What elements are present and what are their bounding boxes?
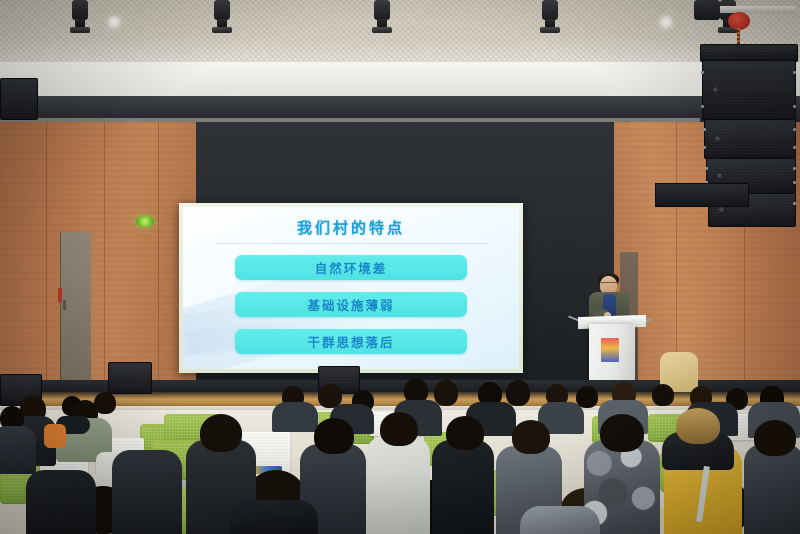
moving-head-light [212,0,232,34]
slide-bullet-label: 自然环境差 [235,255,467,280]
audience-body-foreground [366,436,430,534]
audience-head [512,420,550,454]
stage-monitor-speaker [108,362,152,394]
stage-door-left[interactable] [60,232,91,392]
audience-body-foreground [432,440,494,534]
audience-body [44,424,66,448]
audience-head [314,418,354,454]
institution-emblem-icon [601,338,619,362]
ceiling-soffit [0,62,800,96]
moving-head-light [540,0,560,34]
glasses-icon [601,282,616,286]
audience-head [446,416,484,450]
ceiling-perforation-texture [0,0,800,62]
exit-sign-icon [136,216,154,227]
fire-alarm-strip [58,288,62,302]
moving-head-light [372,0,392,34]
slide-bullet-box: 基础设施薄弱 [235,292,467,317]
audience-head [380,412,418,446]
line-array-module [704,119,796,159]
projection-screen: 我们村的特点 自然环境差 基础设施薄弱 干群思想落后 [183,207,519,369]
door-handle[interactable] [63,300,66,310]
hoist-motor [694,0,720,20]
line-array-module [702,60,796,120]
audience-body [0,426,36,474]
slide-bullet-box: 干群思想落后 [235,329,467,354]
audience-body-foreground [230,500,318,534]
wood-grain-texture-left [0,122,196,412]
audience-head [434,380,458,406]
audience-head [676,408,720,444]
audience-body [272,402,318,432]
wall-monitor-left [0,78,38,120]
audience-head [652,384,674,406]
audience-body-foreground [26,470,96,534]
slide-bullet-label: 基础设施薄弱 [235,292,467,317]
audience-body-foreground [744,444,800,534]
moving-head-light [70,0,90,34]
ceiling-downlight [660,16,672,28]
slide-title-divider [215,243,487,244]
audience-body-foreground [520,506,600,534]
slide-bullet-label: 干群思想落后 [235,329,467,354]
wall-seam [104,122,105,412]
wall-seam [158,122,159,412]
audience-body-foreground [112,450,182,534]
wall-seam [46,122,47,412]
ceiling-downlight [108,16,120,28]
auditorium-photo: 我们村的特点 自然环境差 基础设施薄弱 干群思想落后 [0,0,800,534]
audience-head [506,380,530,406]
wall-mounted-speaker [655,183,749,207]
audience-head [200,414,242,452]
slide-bullet-box: 自然环境差 [235,255,467,280]
audience-head [754,420,796,456]
audience-head [600,414,644,452]
slide-title: 我们村的特点 [183,217,519,238]
